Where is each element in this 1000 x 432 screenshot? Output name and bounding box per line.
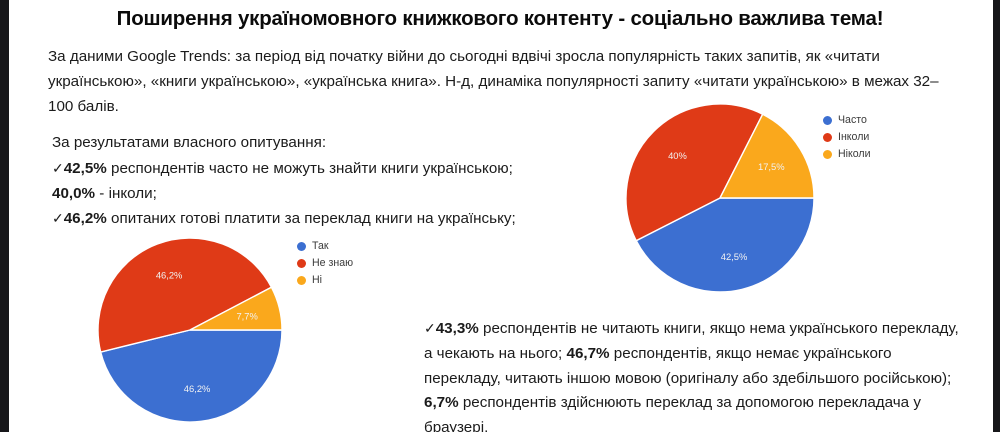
legend-swatch-icon: [823, 150, 832, 159]
checkmark-icon: ✓: [52, 160, 64, 176]
pie-slice-label: 7,7%: [236, 310, 257, 321]
legend-item[interactable]: Ніколи: [823, 146, 871, 163]
legend-item-label: Часто: [838, 112, 867, 129]
pie-willingness-graphic: 46,2%46,2%7,7%: [97, 237, 284, 424]
survey-results-block: За результатами власного опитування: ✓42…: [52, 130, 652, 231]
pie-willingness-svg: 46,2%46,2%7,7%: [97, 237, 284, 424]
bottom-note-value: 43,3%: [436, 320, 479, 337]
survey-row-value: 40,0%: [52, 185, 95, 202]
survey-lead-text: За результатами власного опитування:: [52, 130, 652, 155]
survey-row-text: респондентів часто не можуть знайти книг…: [107, 160, 513, 177]
legend-item-label: Ні: [312, 272, 322, 289]
legend-item[interactable]: Так: [297, 238, 353, 255]
pie-frequency-graphic: 42,5%40%17,5%: [625, 103, 816, 294]
bottom-note-text: респондентів здійснюють переклад за допо…: [424, 394, 921, 432]
pie-slice-label: 46,2%: [156, 269, 183, 280]
legend-swatch-icon: [297, 259, 306, 268]
legend-item[interactable]: Часто: [823, 112, 871, 129]
survey-row: ✓46,2% опитаних готові платити за перекл…: [52, 206, 652, 231]
left-edge-band: [0, 0, 9, 432]
survey-row: 40,0% - інколи;: [52, 181, 652, 206]
legend-item[interactable]: Не знаю: [297, 255, 353, 272]
legend-swatch-icon: [297, 276, 306, 285]
pie-chart-willingness: 46,2%46,2%7,7% ТакНе знаюНі: [97, 237, 427, 431]
survey-row-list: ✓42,5% респондентів часто не можуть знай…: [52, 156, 652, 231]
checkmark-icon: ✓: [52, 210, 64, 226]
legend-swatch-icon: [297, 242, 306, 251]
legend-item[interactable]: Ні: [297, 272, 353, 289]
pie-slice-label: 46,2%: [184, 383, 211, 394]
survey-row: ✓42,5% респондентів часто не можуть знай…: [52, 156, 652, 181]
bottom-note-value: 46,7%: [567, 345, 610, 362]
pie-chart-frequency: 42,5%40%17,5% ЧастоІнколиНіколи: [625, 103, 955, 301]
survey-row-text: опитаних готові платити за переклад книг…: [107, 210, 516, 227]
pie-slice-label: 17,5%: [758, 161, 785, 172]
pie-slice-label: 40%: [668, 150, 687, 161]
survey-row-text: - інколи;: [95, 185, 157, 202]
right-edge-band: [993, 0, 1000, 432]
legend-item[interactable]: Інколи: [823, 129, 871, 146]
survey-row-value: 42,5%: [64, 160, 107, 177]
legend-item-label: Не знаю: [312, 255, 353, 272]
pie-slice-label: 42,5%: [721, 251, 748, 262]
pie-frequency-legend: ЧастоІнколиНіколи: [823, 112, 871, 163]
legend-item-label: Так: [312, 238, 329, 255]
legend-item-label: Інколи: [838, 129, 869, 146]
legend-item-label: Ніколи: [838, 146, 871, 163]
page-title: Поширення україномовного книжкового конт…: [55, 8, 945, 31]
pie-frequency-svg: 42,5%40%17,5%: [625, 103, 816, 294]
bottom-note-value: 6,7%: [424, 394, 459, 411]
survey-row-value: 46,2%: [64, 210, 107, 227]
slide-canvas: Поширення україномовного книжкового конт…: [0, 0, 1000, 432]
legend-swatch-icon: [823, 116, 832, 125]
legend-swatch-icon: [823, 133, 832, 142]
pie-willingness-legend: ТакНе знаюНі: [297, 238, 353, 289]
bottom-note-paragraph: ✓43,3% респондентів не читають книги, як…: [424, 316, 964, 432]
